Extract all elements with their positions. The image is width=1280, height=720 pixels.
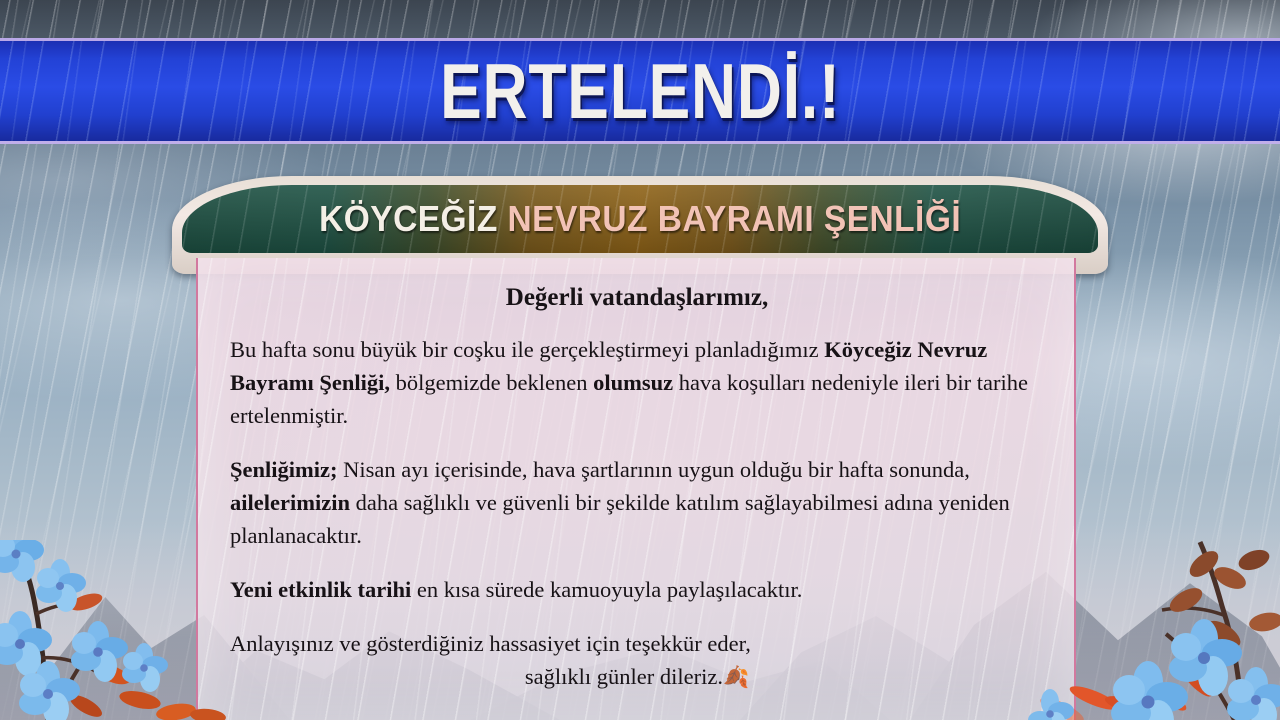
announcement-paragraph-4: Anlayışınız ve gösterdiğiniz hassasiyet …: [230, 627, 1044, 693]
header-banner: ERTELENDİ.!: [0, 38, 1280, 144]
announcement-paragraph-2: Şenliğimiz; Nisan ayı içerisinde, hava ş…: [230, 453, 1044, 552]
title-banner-fill: KÖYCEĞİZ NEVRUZ BAYRAMI ŞENLİĞİ: [182, 185, 1098, 253]
announcement-panel: Değerli vatandaşlarımız, Bu hafta sonu b…: [196, 258, 1076, 720]
announcement-paragraph-1: Bu hafta sonu büyük bir coşku ile gerçek…: [230, 333, 1044, 432]
announcement-paragraph-3: Yeni etkinlik tarihi en kısa sürede kamu…: [230, 573, 1044, 606]
announcement-body: Değerli vatandaşlarımız, Bu hafta sonu b…: [198, 258, 1074, 693]
p1-text-1: Bu hafta sonu büyük bir coşku ile gerçek…: [230, 337, 824, 362]
p1-text-2: bölgemizde beklenen: [390, 370, 593, 395]
event-title-name: NEVRUZ BAYRAMI ŞENLİĞİ: [507, 198, 961, 239]
p4-text-2: sağlıklı günler dileriz.: [525, 664, 723, 689]
event-title-text: KÖYCEĞİZ NEVRUZ BAYRAMI ŞENLİĞİ: [319, 201, 961, 237]
p4-closing-line: sağlıklı günler dileriz.🍂: [230, 660, 1044, 693]
p2-bold-ailelerimizin: ailelerimizin: [230, 490, 350, 515]
p1-bold-olumsuz: olumsuz: [593, 370, 673, 395]
event-title-location: KÖYCEĞİZ: [319, 198, 498, 239]
header-banner-title: ERTELENDİ.!: [440, 52, 841, 130]
fallen-leaf-icon: 🍂: [723, 665, 749, 689]
p2-text-1: Nisan ayı içerisinde, hava şartlarının u…: [338, 457, 970, 482]
p3-bold-new-date: Yeni etkinlik tarihi: [230, 577, 411, 602]
p4-text-1: Anlayışınız ve gösterdiğiniz hassasiyet …: [230, 631, 751, 656]
announcement-salutation: Değerli vatandaşlarımız,: [230, 280, 1044, 317]
p3-text-1: en kısa sürede kamuoyuyla paylaşılacaktı…: [411, 577, 802, 602]
p2-bold-senligimiz: Şenliğimiz;: [230, 457, 338, 482]
poster-stage: ERTELENDİ.! KÖYCEĞİZ NEVRUZ BAYRAMI ŞENL…: [0, 0, 1280, 720]
